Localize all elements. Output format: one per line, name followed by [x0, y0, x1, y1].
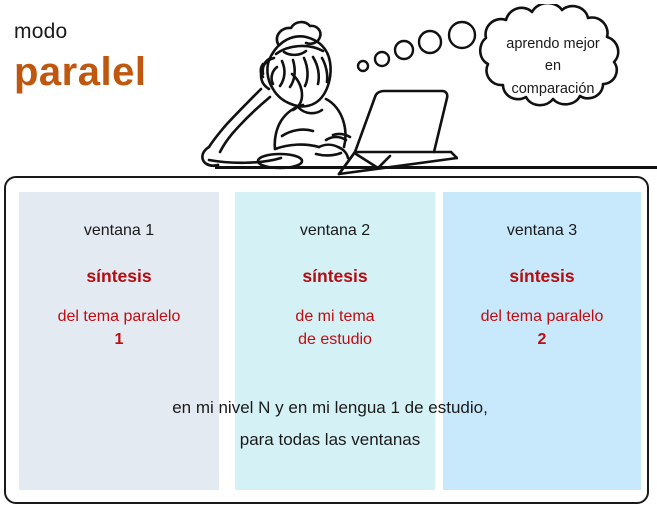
window-3-body-line-1: del tema paralelo [443, 305, 641, 328]
window-2-body-line-2: de estudio [235, 328, 435, 351]
window-column-1[interactable]: ventana 1 síntesis del tema paralelo 1 [19, 192, 219, 490]
window-1-body-line-1: del tema paralelo [19, 305, 219, 328]
window-1-header: ventana 1 [19, 222, 219, 240]
window-2-body-line-1: de mi tema [235, 305, 435, 328]
desk-line [215, 166, 657, 169]
window-2-body: de mi tema de estudio [235, 305, 435, 351]
slide-canvas: modo paralel [0, 0, 657, 512]
window-3-body: del tema paralelo 2 [443, 305, 641, 351]
window-1-synthesis-label: síntesis [19, 266, 219, 287]
thought-line-2: en [472, 55, 634, 77]
window-1-body-line-2: 1 [19, 328, 219, 351]
window-3-synthesis-label: síntesis [443, 266, 641, 287]
thought-bubble-text: aprendo mejor en comparación [472, 33, 634, 100]
thought-line-3: comparación [472, 78, 634, 100]
window-2-synthesis-label: síntesis [235, 266, 435, 287]
windows-container: ventana 1 síntesis del tema paralelo 1 v… [19, 192, 641, 490]
window-column-3[interactable]: ventana 3 síntesis del tema paralelo 2 [443, 192, 641, 490]
window-3-body-line-2: 2 [443, 328, 641, 351]
window-3-header: ventana 3 [443, 222, 641, 240]
window-2-header: ventana 2 [235, 222, 435, 240]
window-column-2[interactable]: ventana 2 síntesis de mi tema de estudio [235, 192, 435, 490]
thought-line-1: aprendo mejor [472, 33, 634, 55]
window-1-body: del tema paralelo 1 [19, 305, 219, 351]
